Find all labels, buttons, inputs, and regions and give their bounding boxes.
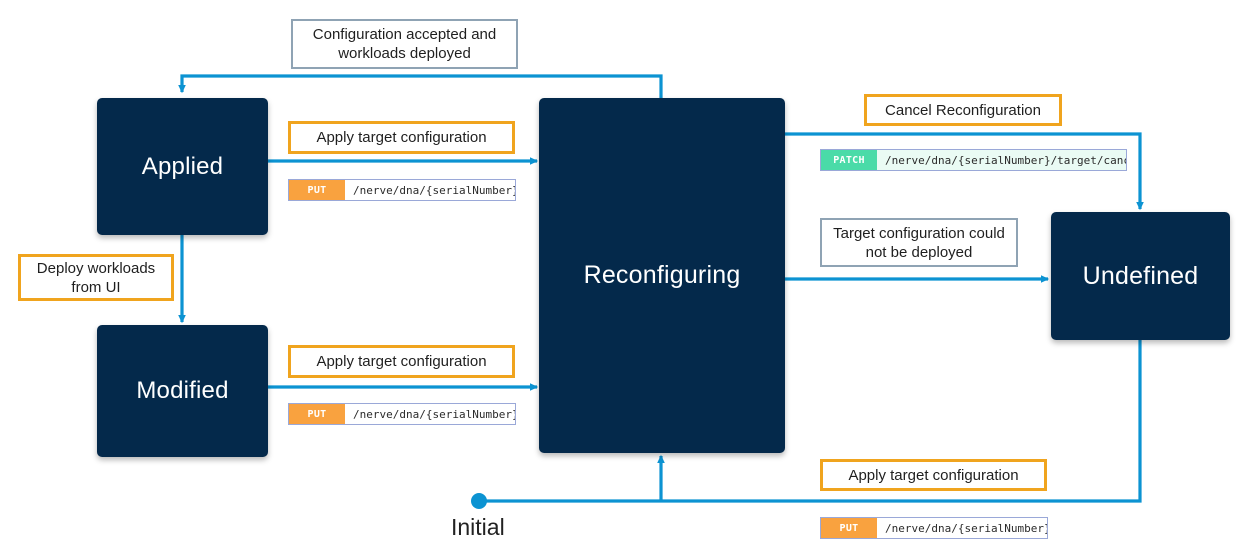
edge-reconfiguring-to-undefined-cancel — [785, 134, 1140, 209]
label-cancel-reconfiguration: Cancel Reconfiguration — [864, 94, 1062, 126]
label-apply-target-configuration-modified-text: Apply target configuration — [316, 352, 486, 371]
state-applied-label: Applied — [142, 153, 223, 181]
initial-state-label: Initial — [451, 514, 505, 541]
state-diagram-canvas: Applied Modified Reconfiguring Undefined… — [0, 0, 1248, 557]
label-apply-target-configuration-initial: Apply target configuration — [820, 459, 1047, 491]
label-cancel-reconfiguration-text: Cancel Reconfiguration — [885, 101, 1041, 120]
state-reconfiguring[interactable]: Reconfiguring — [539, 98, 785, 453]
api-verb-badge: PATCH — [821, 150, 877, 170]
api-chip-put-target-initial[interactable]: PUT /nerve/dna/{serialNumber}/target — [820, 517, 1048, 539]
api-verb-badge: PUT — [289, 404, 345, 424]
label-apply-target-configuration-applied: Apply target configuration — [288, 121, 515, 154]
label-target-configuration-not-deployed-text: Target configuration could not be deploy… — [822, 224, 1016, 262]
api-verb-badge: PUT — [289, 180, 345, 200]
api-path: /nerve/dna/{serialNumber}/target — [877, 518, 1048, 538]
api-path: /nerve/dna/{serialNumber}/target/cancel — [877, 150, 1127, 170]
label-apply-target-configuration-initial-text: Apply target configuration — [848, 466, 1018, 485]
state-modified[interactable]: Modified — [97, 325, 268, 457]
label-deploy-workloads-from-ui-text: Deploy workloads from UI — [21, 259, 171, 297]
label-target-configuration-not-deployed: Target configuration could not be deploy… — [820, 218, 1018, 267]
label-configuration-accepted: Configuration accepted and workloads dep… — [291, 19, 518, 69]
api-path: /nerve/dna/{serialNumber}/target — [345, 404, 516, 424]
edge-reconfiguring-to-applied — [182, 76, 661, 98]
label-apply-target-configuration-applied-text: Apply target configuration — [316, 128, 486, 147]
state-applied[interactable]: Applied — [97, 98, 268, 235]
api-chip-patch-target-cancel[interactable]: PATCH /nerve/dna/{serialNumber}/target/c… — [820, 149, 1127, 171]
state-undefined[interactable]: Undefined — [1051, 212, 1230, 340]
state-reconfiguring-label: Reconfiguring — [584, 261, 741, 290]
initial-state-dot — [471, 493, 487, 509]
label-apply-target-configuration-modified: Apply target configuration — [288, 345, 515, 378]
api-verb-badge: PUT — [821, 518, 877, 538]
api-chip-put-target-applied[interactable]: PUT /nerve/dna/{serialNumber}/target — [288, 179, 516, 201]
api-chip-put-target-modified[interactable]: PUT /nerve/dna/{serialNumber}/target — [288, 403, 516, 425]
state-modified-label: Modified — [136, 377, 228, 405]
label-deploy-workloads-from-ui: Deploy workloads from UI — [18, 254, 174, 301]
state-undefined-label: Undefined — [1083, 262, 1199, 291]
label-configuration-accepted-text: Configuration accepted and workloads dep… — [293, 25, 516, 63]
api-path: /nerve/dna/{serialNumber}/target — [345, 180, 516, 200]
